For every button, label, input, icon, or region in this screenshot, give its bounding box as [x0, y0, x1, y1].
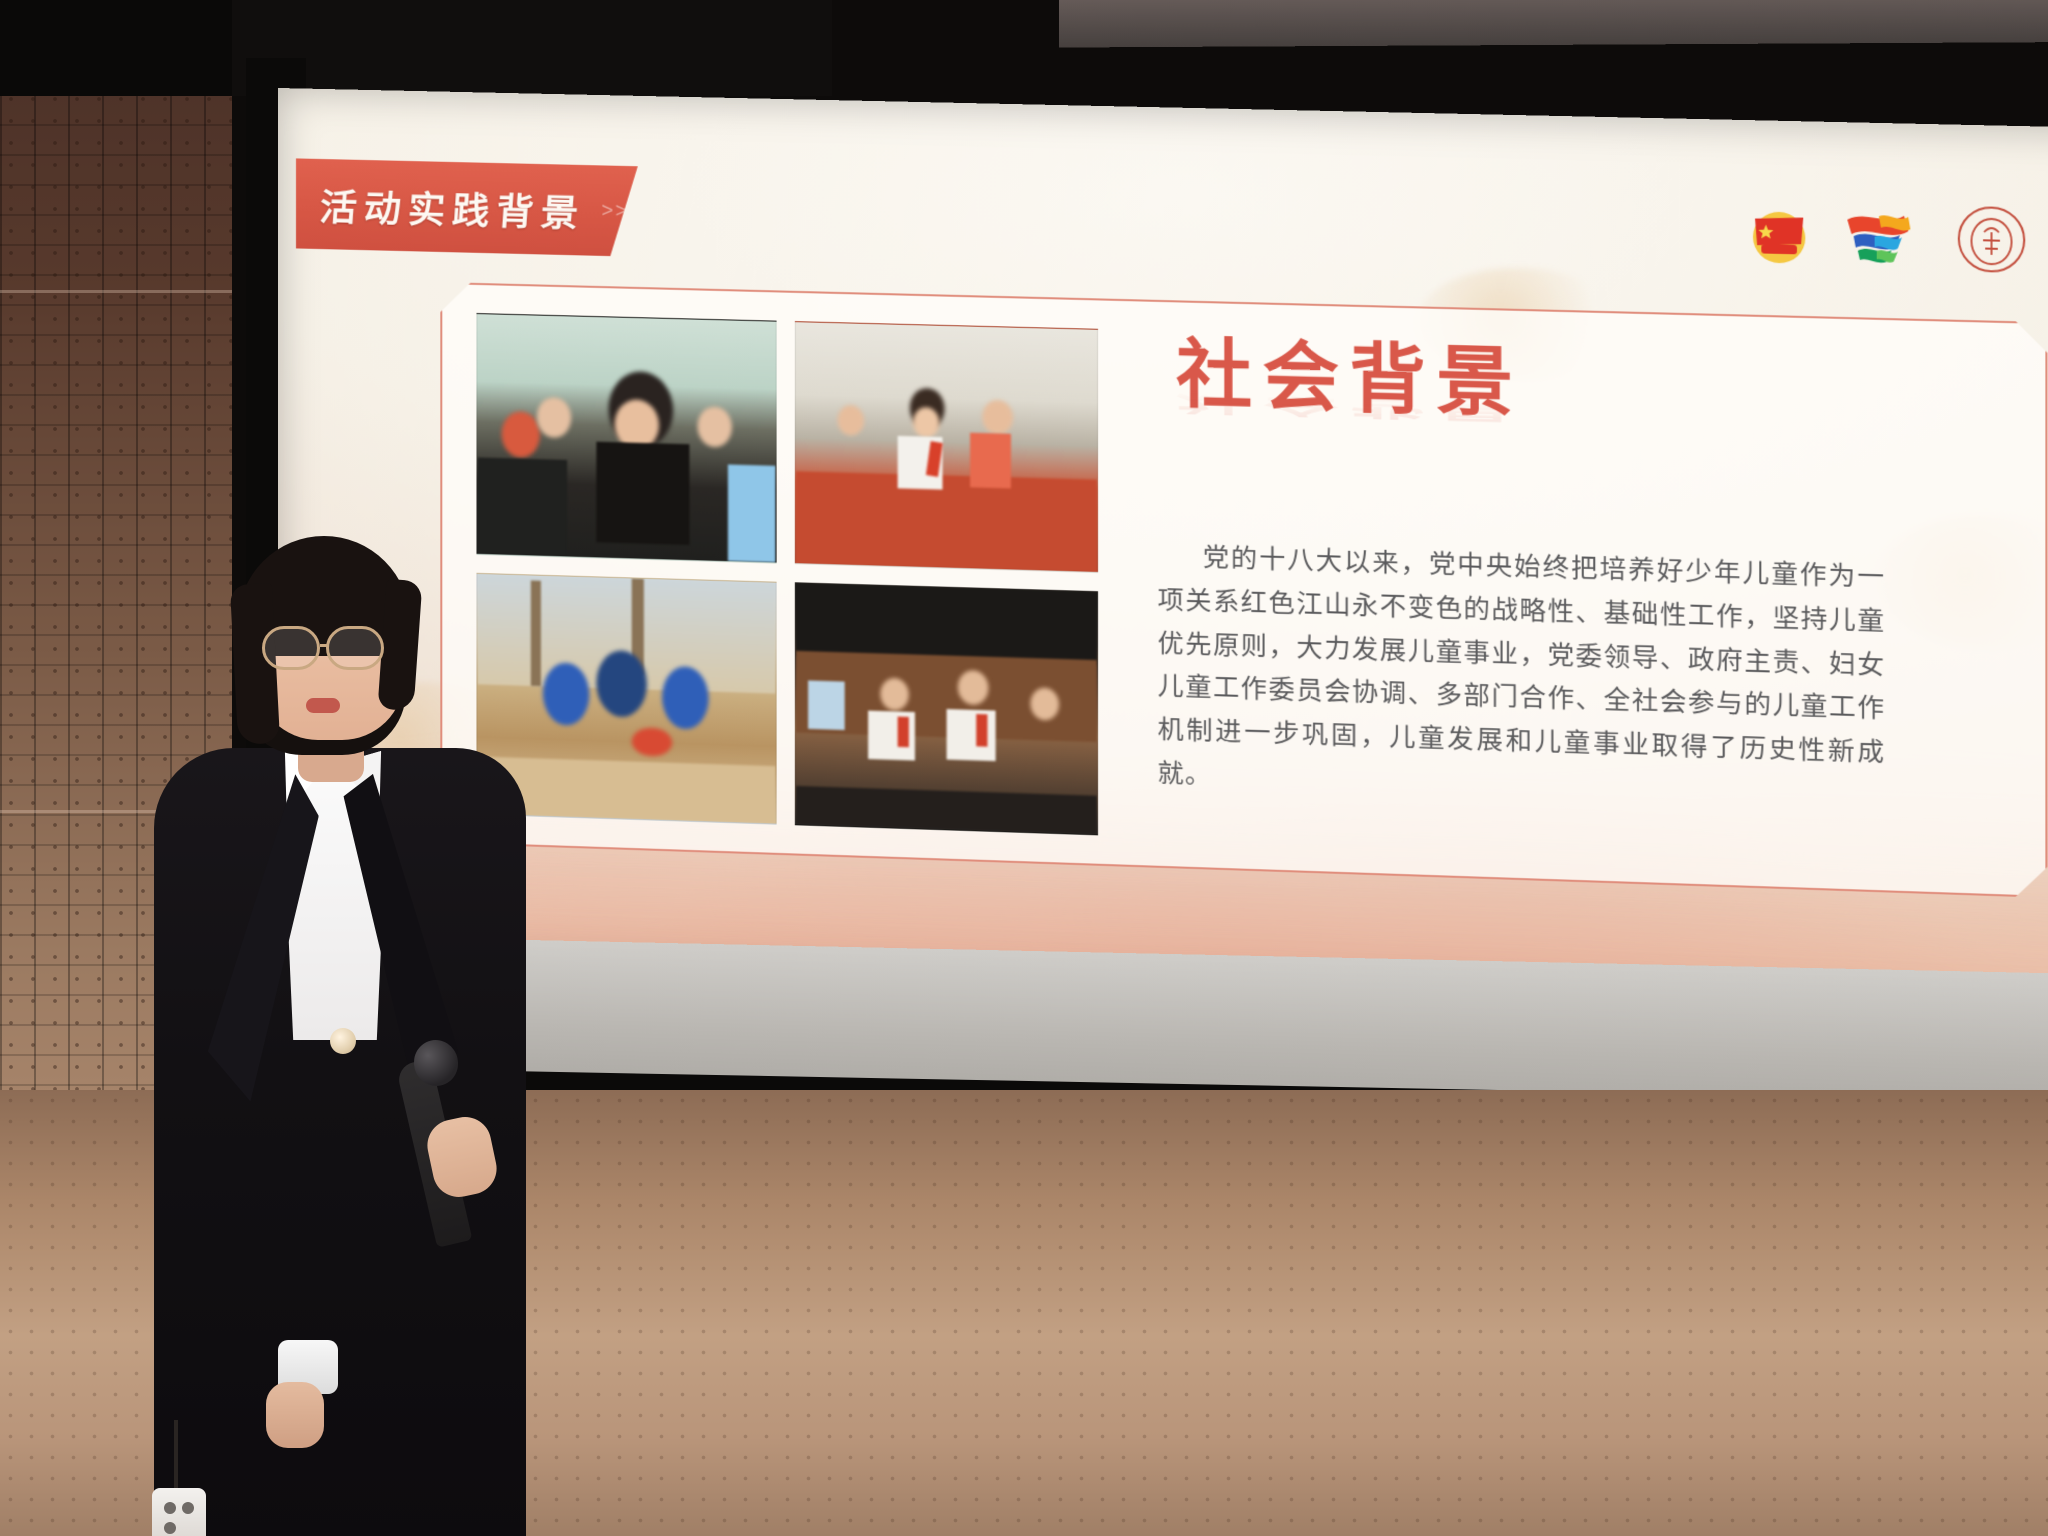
presenter-hair-right: [378, 579, 423, 711]
eyeglasses-right-lens: [326, 626, 384, 670]
slide-title-banner: 活动实践背景 >>>: [296, 158, 638, 256]
young-pioneers-emblem-icon: [1747, 202, 1812, 272]
presenter-cable: [174, 1420, 178, 1494]
presenter-badge-pin: [330, 1028, 356, 1054]
student-presenter: [130, 520, 550, 1536]
photo-young-pioneers-red-carpet: [795, 321, 1098, 573]
eyeglasses-left-lens: [262, 626, 320, 670]
slide-text-column: 社会背景 社会背景 党的十八大以来，党中央始终把培养好少年儿童作为一项关系红色江…: [1098, 329, 2009, 866]
banner-chevron-icon: >>>: [601, 199, 642, 223]
colored-flag-logo-icon: [1843, 205, 1925, 274]
screen-frame-top-left: [232, 0, 832, 96]
presentation-photo: 活动实践背景 >>>: [0, 0, 2048, 1536]
photo-indoor-ceremony: [795, 582, 1098, 835]
eyeglasses-bridge: [320, 644, 328, 647]
slide-title-text: 活动实践背景: [318, 177, 587, 237]
university-seal-icon: [1957, 205, 2027, 280]
presenter-lower-hand: [266, 1382, 324, 1448]
presenter-mouth: [306, 698, 340, 713]
slide-content-card: 社会背景 社会背景 党的十八大以来，党中央始终把培养好少年儿童作为一项关系红色江…: [440, 282, 2047, 898]
slide-logo-group: [1747, 200, 2027, 279]
section-body-text: 党的十八大以来，党中央始终把培养好少年儿童作为一项关系红色江山永不变色的战略性、…: [1158, 535, 1886, 819]
presentation-clicker: [152, 1488, 206, 1536]
slide-photo-grid: [476, 313, 1098, 835]
